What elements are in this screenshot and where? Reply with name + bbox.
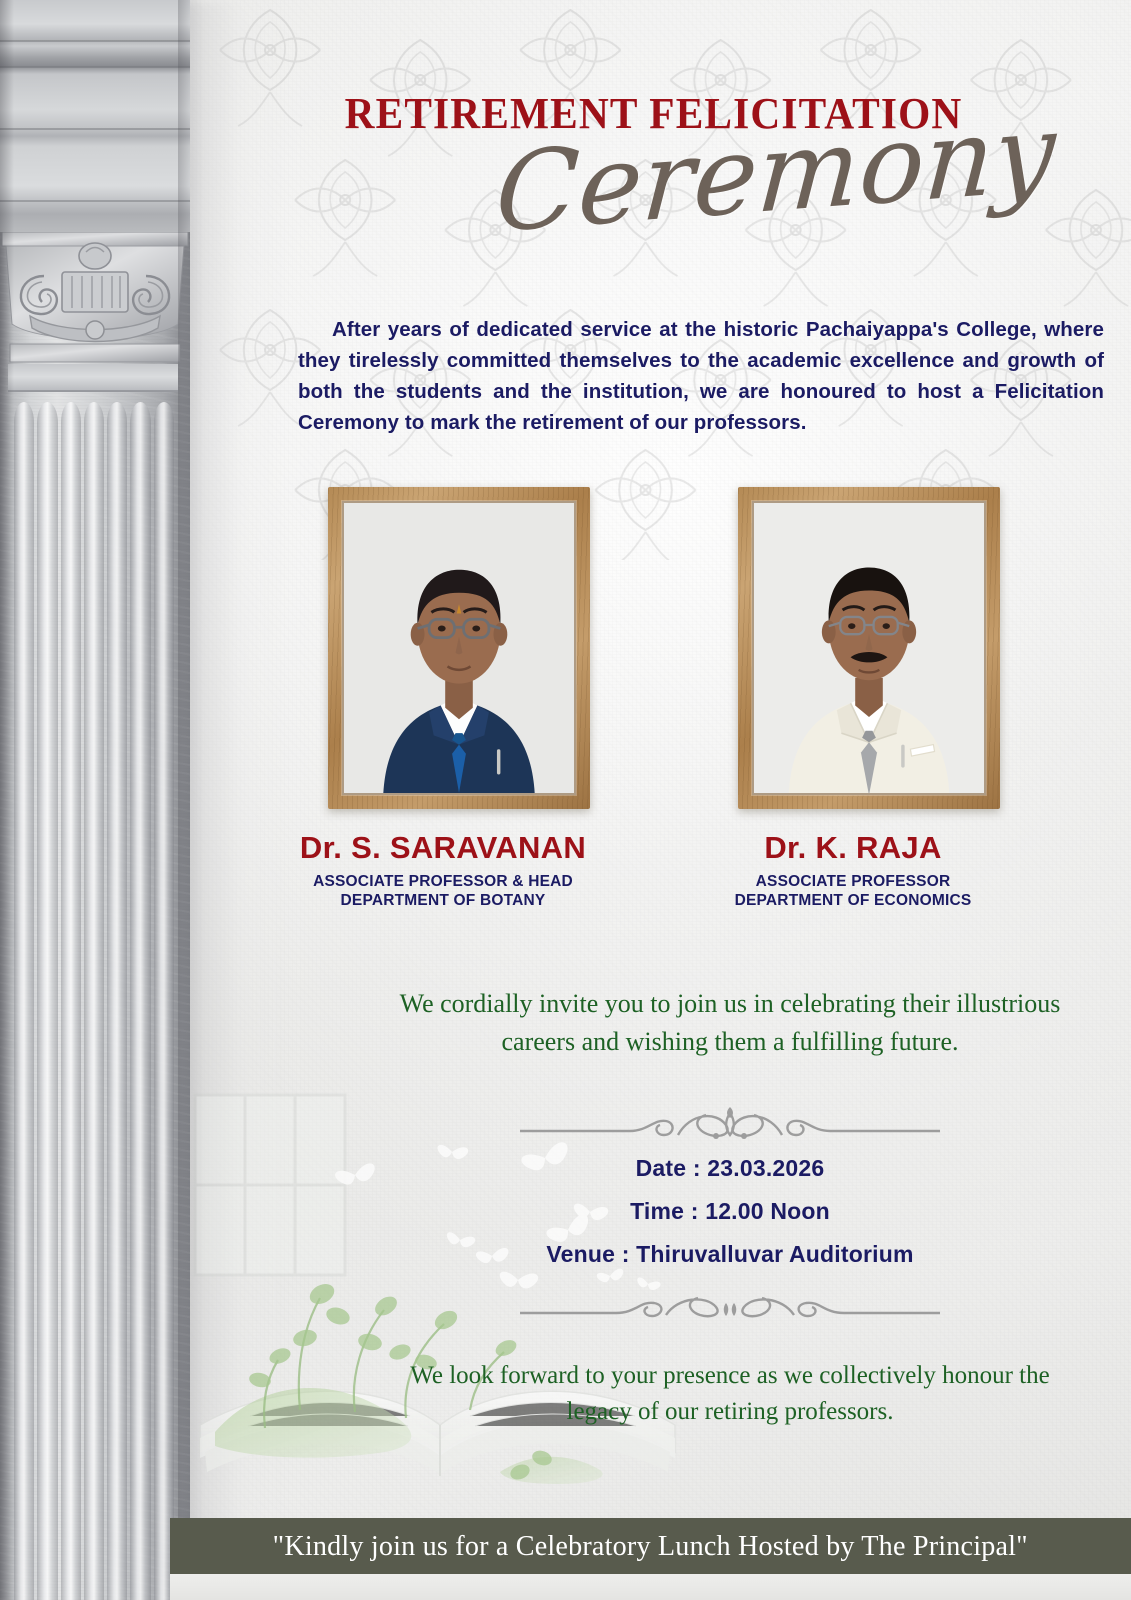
ornamental-divider-top-icon	[520, 1105, 940, 1139]
honoree-2-department: DEPARTMENT OF ECONOMICS	[698, 891, 1008, 910]
ionic-column-icon	[0, 0, 190, 1600]
portrait-honoree-2	[754, 503, 984, 793]
photo-frame-honoree-1	[328, 487, 590, 809]
invitation-text: We cordially invite you to join us in ce…	[380, 985, 1080, 1061]
photo-frame-honoree-2	[738, 487, 1000, 809]
ornamental-divider-bottom-icon	[520, 1285, 940, 1319]
closing-text: We look forward to your presence as we c…	[380, 1358, 1080, 1430]
honoree-2-name: Dr. K. RAJA	[698, 830, 1008, 866]
honoree-2-designation: ASSOCIATE PROFESSOR	[698, 872, 1008, 891]
honoree-1-name: Dr. S. SARAVANAN	[288, 830, 598, 866]
event-time: Time : 12.00 Noon	[380, 1198, 1080, 1225]
event-venue: Venue : Thiruvalluvar Auditorium	[380, 1241, 1080, 1268]
column-flutes	[14, 392, 174, 1600]
intro-paragraph: After years of dedicated service at the …	[298, 314, 1104, 438]
column-capital-icon	[0, 232, 190, 364]
honoree-1-designation: ASSOCIATE PROFESSOR & HEAD	[288, 872, 598, 891]
poster-content: RETIREMENT FELICITATION Ceremony After y…	[190, 0, 1131, 1600]
footer-underpad	[170, 1574, 1131, 1600]
footer-banner: "Kindly join us for a Celebratory Lunch …	[170, 1518, 1131, 1574]
honoree-1-role: ASSOCIATE PROFESSOR & HEAD DEPARTMENT OF…	[288, 872, 598, 910]
portrait-honoree-1	[344, 503, 574, 793]
footer-note: "Kindly join us for a Celebratory Lunch …	[273, 1530, 1028, 1563]
event-date: Date : 23.03.2026	[380, 1155, 1080, 1182]
invitation-poster: RETIREMENT FELICITATION Ceremony After y…	[0, 0, 1131, 1600]
honoree-2-role: ASSOCIATE PROFESSOR DEPARTMENT OF ECONOM…	[698, 872, 1008, 910]
honoree-1-department: DEPARTMENT OF BOTANY	[288, 891, 598, 910]
